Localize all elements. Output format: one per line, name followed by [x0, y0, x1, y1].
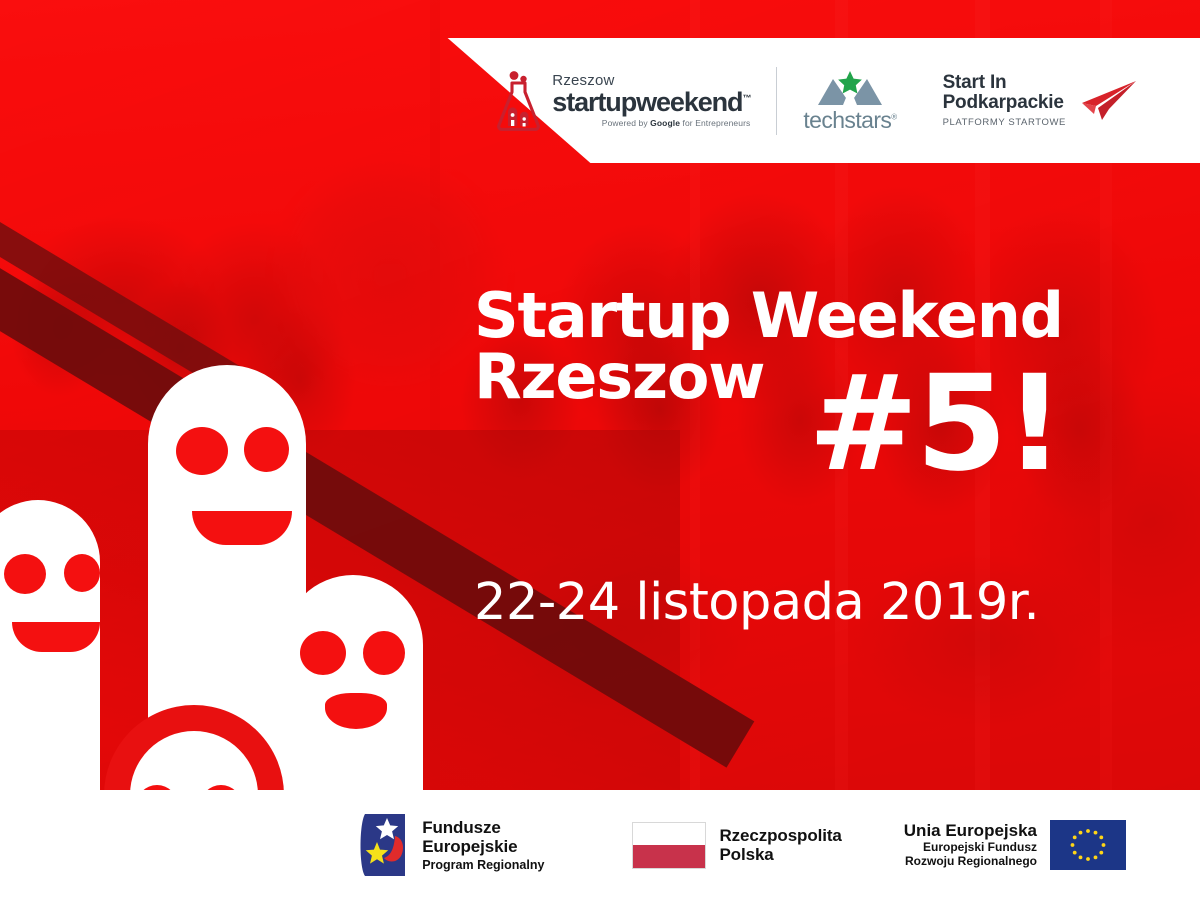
mascot-eye-right [244, 427, 289, 472]
unia-line1: Unia Europejska [904, 821, 1037, 841]
mascot-eye-left [300, 631, 346, 675]
sw-powered-by: Powered by Google for Entrepreneurs [602, 119, 751, 128]
fundusze-wordmark: Fundusze Europejskie Program Regionalny [422, 818, 544, 872]
unia-europejska-logo: Unia Europejska Europejski Fundusz Rozwo… [904, 820, 1126, 870]
mascot-eye-left [4, 554, 46, 594]
flask-people-icon [495, 70, 543, 132]
mascot-eye-right [64, 554, 100, 592]
mascot-eye-left [176, 427, 228, 475]
flag-stripe-red [633, 845, 705, 868]
poland-flag-icon [632, 822, 706, 869]
fundusze-europejskie-logo: Fundusze Europejskie Program Regionalny [357, 812, 544, 878]
start-in-podkarpackie-logo: Start In Podkarpackie PLATFORMY STARTOWE [943, 73, 1138, 128]
startup-weekend-wordmark: Rzeszow startupweekend™ Powered by Googl… [552, 73, 750, 128]
sip-wordmark: Start In Podkarpackie PLATFORMY STARTOWE [943, 73, 1066, 128]
techstars-wordmark: techstars® [803, 109, 896, 132]
techstars-wordmark-text: techstars [803, 107, 891, 133]
rzeczpospolita-wordmark: Rzeczpospolita Polska [719, 826, 841, 864]
paper-plane-icon [1076, 79, 1138, 123]
mascot-eye-right [363, 631, 405, 675]
rzeczpospolita-line1: Rzeczpospolita [719, 826, 841, 845]
logo-divider [776, 67, 777, 135]
sip-line1: Start In [943, 73, 1066, 93]
edition-number: #5! [808, 368, 1062, 482]
unia-line3: Rozwoju Regionalnego [905, 855, 1037, 869]
mountain-star-icon [816, 70, 884, 106]
sw-powered-suffix: for Entrepreneurs [680, 118, 750, 128]
sw-powered-prefix: Powered by [602, 118, 650, 128]
fundusze-line1: Fundusze [422, 818, 544, 837]
sip-subtitle: PLATFORMY STARTOWE [943, 118, 1066, 128]
startup-weekend-logo: Rzeszow startupweekend™ Powered by Googl… [495, 70, 750, 132]
sw-wordmark-text: startupweekend [552, 87, 742, 117]
unia-line2: Europejski Fundusz [923, 841, 1037, 855]
funding-logo-band: Fundusze Europejskie Program Regionalny … [0, 790, 1200, 900]
unia-wordmark: Unia Europejska Europejski Fundusz Rozwo… [904, 821, 1037, 868]
sw-powered-brand: Google [650, 118, 680, 128]
techstars-registered: ® [891, 112, 896, 121]
sip-line2: Podkarpackie [943, 93, 1066, 113]
rzeczpospolita-line2: Polska [719, 845, 841, 864]
eu-flag-icon [1050, 820, 1126, 870]
fundusze-europejskie-stars-icon [357, 812, 409, 878]
rzeczpospolita-polska-logo: Rzeczpospolita Polska [632, 822, 841, 869]
sw-wordmark: startupweekend™ [552, 89, 750, 116]
sw-city: Rzeszow [552, 73, 614, 88]
event-poster: Rzeszow startupweekend™ Powered by Googl… [0, 0, 1200, 900]
partner-logo-row: Rzeszow startupweekend™ Powered by Googl… [0, 38, 1200, 163]
techstars-logo: techstars® [803, 70, 896, 132]
sw-trademark: ™ [742, 93, 750, 103]
fundusze-subtitle: Program Regionalny [422, 858, 544, 872]
flag-stripe-white [633, 823, 705, 846]
fundusze-line2: Europejskie [422, 837, 544, 856]
event-date: 22-24 listopada 2019r. [474, 573, 1039, 632]
page-title-line1: Startup Weekend [474, 286, 1094, 347]
